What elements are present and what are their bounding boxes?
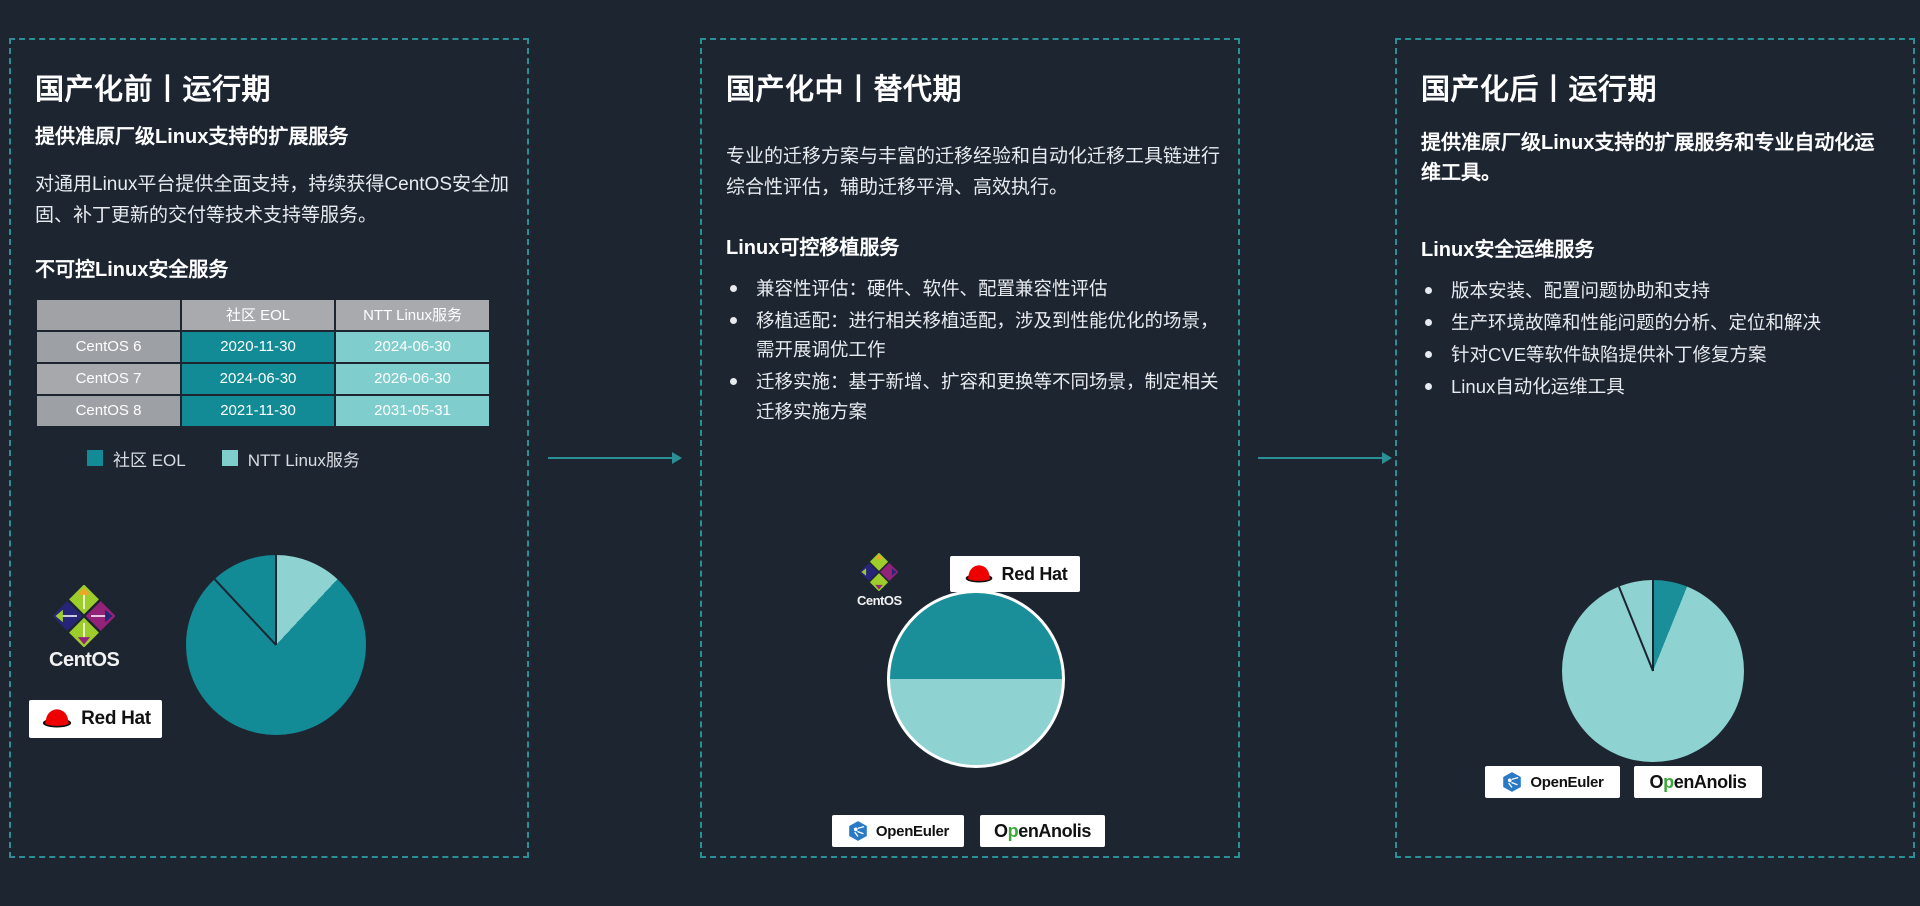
redhat-icon (40, 708, 74, 730)
legend-item-community-eol: 社区 EOL (87, 446, 186, 471)
panel-after-localization: 国产化后丨运行期 提供准原厂级Linux支持的扩展服务和专业自动化运维工具。 L… (1395, 38, 1915, 858)
list-item: 版本安装、配置问题协助和支持 (1421, 276, 1891, 306)
legend-label: NTT Linux服务 (248, 446, 360, 471)
panel-subtitle: 提供准原厂级Linux支持的扩展服务和专业自动化运维工具。 (1421, 128, 1886, 188)
list-item: 针对CVE等软件缺陷提供补丁修复方案 (1421, 340, 1891, 370)
pie-divider (214, 578, 277, 645)
legend-swatch-icon (87, 450, 103, 466)
panel-title: 国产化前丨运行期 (35, 66, 503, 108)
openanolis-logo-label: OpenAnolis (994, 821, 1091, 842)
list-item: Linux自动化运维工具 (1421, 372, 1891, 402)
panel-body-text: 对通用Linux平台提供全面支持，持续获得CentOS安全加固、补丁更新的交付等… (35, 170, 523, 232)
panel-title: 国产化后丨运行期 (1421, 66, 1889, 108)
table-header-ntt-service: NTT Linux服务 (336, 300, 489, 330)
centos-icon (53, 585, 115, 647)
slide-canvas: 国产化前丨运行期 提供准原厂级Linux支持的扩展服务 对通用Linux平台提供… (0, 0, 1920, 906)
panel-subtitle: 提供准原厂级Linux支持的扩展服务 (35, 122, 503, 152)
openanolis-logo: OpenAnolis (1634, 766, 1762, 798)
eol-table: 社区 EOL NTT Linux服务 CentOS 6 2020-11-30 2… (35, 298, 491, 428)
section-heading: Linux可控移植服务 (726, 234, 1214, 262)
panel-during-localization: 国产化中丨替代期 专业的迁移方案与丰富的迁移经验和自动化迁移工具链进行综合性评估… (700, 38, 1240, 858)
centos-logo-label: CentOS (857, 593, 902, 608)
list-item: 迁移实施：基于新增、扩容和更换等不同场景，制定相关迁移实施方案 (726, 367, 1231, 427)
table-cell-ntt-eol: 2031-05-31 (336, 396, 489, 426)
service-bullet-list: 版本安装、配置问题协助和支持 生产环境故障和性能问题的分析、定位和解决 针对CV… (1421, 276, 1891, 402)
pie-divider (1618, 586, 1654, 671)
table-cell-os: CentOS 6 (37, 332, 180, 362)
openanolis-logo: OpenAnolis (980, 815, 1105, 847)
legend-item-ntt-service: NTT Linux服务 (222, 446, 360, 471)
table-cell-os: CentOS 7 (37, 364, 180, 394)
arrow-phase-1-to-2 (548, 452, 682, 464)
section-heading: Linux安全运维服务 (1421, 236, 1889, 264)
service-bullet-list: 兼容性评估：硬件、软件、配置兼容性评估 移植适配：进行相关移植适配，涉及到性能优… (726, 274, 1231, 428)
openanolis-logo-label: OpenAnolis (1649, 772, 1746, 793)
panel-before-localization: 国产化前丨运行期 提供准原厂级Linux支持的扩展服务 对通用Linux平台提供… (9, 38, 529, 858)
table-header-row: 社区 EOL NTT Linux服务 (37, 300, 489, 330)
list-item: 兼容性评估：硬件、软件、配置兼容性评估 (726, 274, 1231, 304)
table-row: CentOS 7 2024-06-30 2026-06-30 (37, 364, 489, 394)
panel-title: 国产化中丨替代期 (726, 66, 1214, 108)
openeuler-icon (847, 820, 869, 842)
openeuler-icon (1501, 771, 1523, 793)
table-header-blank (37, 300, 180, 330)
openeuler-logo-label: OpenEuler (876, 823, 949, 840)
list-item: 生产环境故障和性能问题的分析、定位和解决 (1421, 308, 1891, 338)
centos-logo: CentOS (857, 553, 902, 608)
panel-body-text: 专业的迁移方案与丰富的迁移经验和自动化迁移工具链进行综合性评估，辅助迁移平滑、高… (726, 142, 1226, 204)
openeuler-logo-label: OpenEuler (1530, 774, 1603, 791)
table-cell-os: CentOS 8 (37, 396, 180, 426)
redhat-icon (963, 564, 995, 585)
table-header-community-eol: 社区 EOL (182, 300, 334, 330)
pie-divider (1652, 580, 1654, 671)
table-cell-ntt-eol: 2026-06-30 (336, 364, 489, 394)
table-cell-ntt-eol: 2024-06-30 (336, 332, 489, 362)
pie-chart-before (186, 555, 366, 735)
list-item: 移植适配：进行相关移植适配，涉及到性能优化的场景，需开展调优工作 (726, 306, 1231, 366)
table-cell-community-eol: 2020-11-30 (182, 332, 334, 362)
openeuler-logo: OpenEuler (832, 815, 964, 847)
table-cell-community-eol: 2021-11-30 (182, 396, 334, 426)
pie-chart-during (887, 590, 1065, 768)
pie-chart-after (1562, 580, 1744, 762)
arrow-phase-2-to-3 (1258, 452, 1392, 464)
redhat-logo-label: Red Hat (81, 708, 151, 730)
table-row: CentOS 6 2020-11-30 2024-06-30 (37, 332, 489, 362)
openeuler-logo: OpenEuler (1485, 766, 1620, 798)
legend-label: 社区 EOL (113, 446, 186, 471)
table-cell-community-eol: 2024-06-30 (182, 364, 334, 394)
centos-logo: CentOS (49, 585, 119, 672)
table-row: CentOS 8 2021-11-30 2031-05-31 (37, 396, 489, 426)
table-legend: 社区 EOL NTT Linux服务 (35, 446, 503, 471)
centos-logo-label: CentOS (49, 649, 119, 672)
pie-divider (275, 555, 277, 645)
centos-icon (860, 553, 898, 591)
legend-swatch-icon (222, 450, 238, 466)
redhat-logo: Red Hat (29, 700, 162, 738)
redhat-logo-label: Red Hat (1002, 564, 1068, 585)
section-heading: 不可控Linux安全服务 (35, 256, 503, 284)
redhat-logo: Red Hat (950, 556, 1080, 592)
